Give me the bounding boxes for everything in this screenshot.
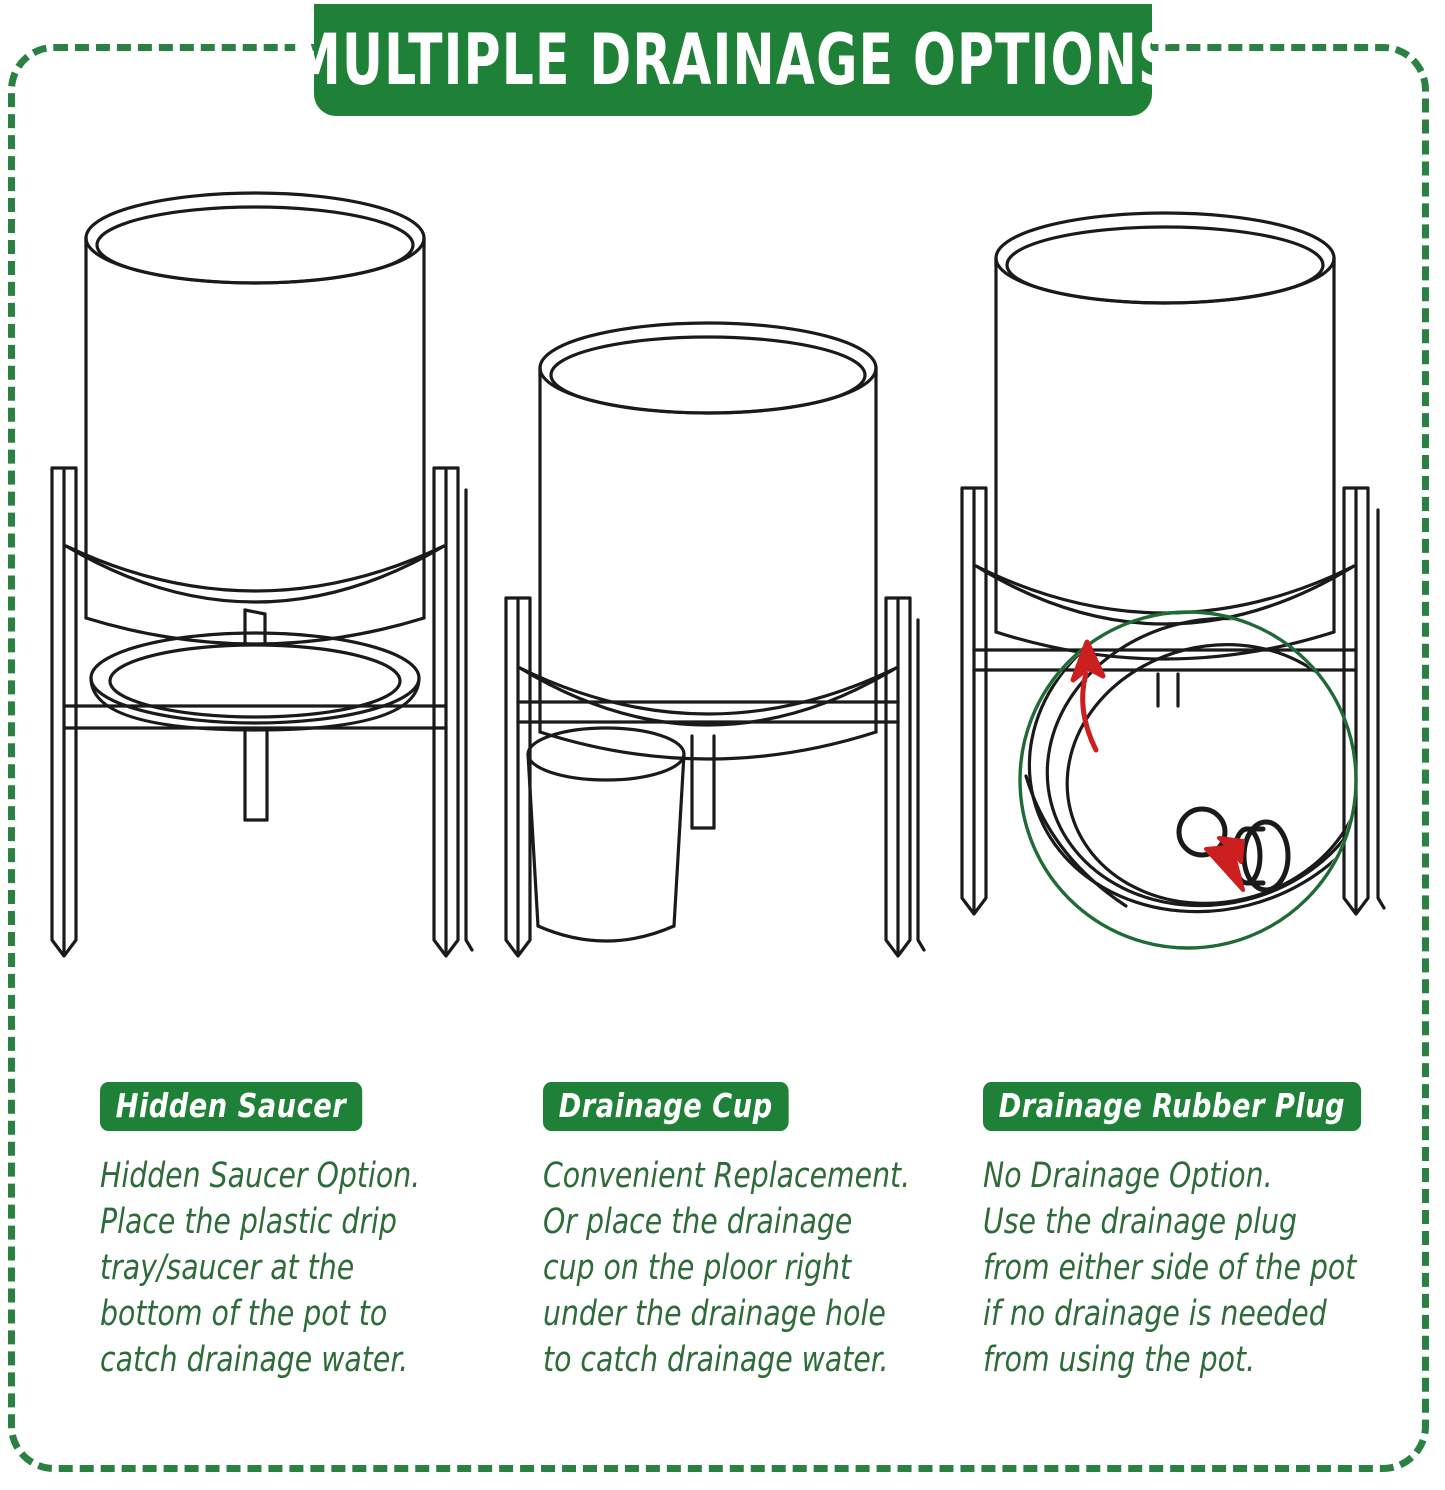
center-post [245,728,267,820]
stand-cradle-ring [66,546,444,602]
body-text-drainage-cup: Convenient Replacement. Or place the dra… [543,1153,903,1383]
stand-cradle-ring [976,566,1354,624]
illustration-hidden-saucer [20,150,490,1020]
magnifier-circle [1020,612,1356,948]
stand-rear-leg [918,620,924,950]
pot-body [86,193,424,644]
body-line: catch drainage water. [100,1337,460,1383]
illustration-drainage-cup [478,150,938,1020]
body-line: tray/saucer at the [100,1245,460,1291]
stand-front-legs [962,488,1368,914]
drainage-cup [528,728,684,941]
caption-band: Hidden Saucer Hidden Saucer Option. Plac… [0,1082,1445,1412]
body-text-hidden-saucer: Hidden Saucer Option. Place the plastic … [100,1153,460,1383]
body-line: Place the plastic drip [100,1199,460,1245]
body-line: No Drainage Option. [983,1153,1361,1199]
body-text-rubber-plug: No Drainage Option. Use the drainage plu… [983,1153,1361,1383]
stand-rear-leg [466,490,472,950]
caption-column-rubber-plug: Drainage Rubber Plug No Drainage Option.… [983,1082,1403,1383]
caption-column-drainage-cup: Drainage Cup Convenient Replacement. Or … [543,1082,943,1383]
drainage-spout [692,736,714,828]
stand-cradle-ring [520,668,896,725]
body-line: bottom of the pot to [100,1291,460,1337]
body-line: under the drainage hole [543,1291,903,1337]
label-pill-drainage-cup: Drainage Cup [543,1082,788,1131]
illustration-rubber-plug [930,150,1420,1020]
body-line: Convenient Replacement. [543,1153,903,1199]
callout-arrow-plug [1206,838,1243,890]
caption-column-hidden-saucer: Hidden Saucer Hidden Saucer Option. Plac… [100,1082,500,1383]
stand-front-legs [52,468,458,956]
body-line: Or place the drainage [543,1199,903,1245]
body-line: to catch drainage water. [543,1337,903,1383]
illustration-band [0,150,1445,1040]
infographic-root: MULTIPLE DRAINAGE OPTIONS [0,0,1445,1490]
stand-cross-brace [518,702,898,722]
pot-body [540,323,876,759]
body-line: cup on the ploor right [543,1245,903,1291]
body-line: from either side of the pot [983,1245,1361,1291]
stand-rear-leg [1378,510,1384,908]
pot-body [996,213,1334,659]
body-line: Use the drainage plug [983,1199,1361,1245]
body-line: from using the pot. [983,1337,1361,1383]
body-line: if no drainage is needed [983,1291,1361,1337]
center-post [1158,674,1178,706]
label-pill-hidden-saucer: Hidden Saucer [100,1082,362,1131]
body-line: Hidden Saucer Option. [100,1153,460,1199]
title-banner: MULTIPLE DRAINAGE OPTIONS [314,4,1152,116]
page-title: MULTIPLE DRAINAGE OPTIONS [291,25,1176,95]
cradle-connector [245,610,265,642]
label-pill-rubber-plug: Drainage Rubber Plug [983,1082,1361,1131]
saucer-tray [91,633,419,730]
